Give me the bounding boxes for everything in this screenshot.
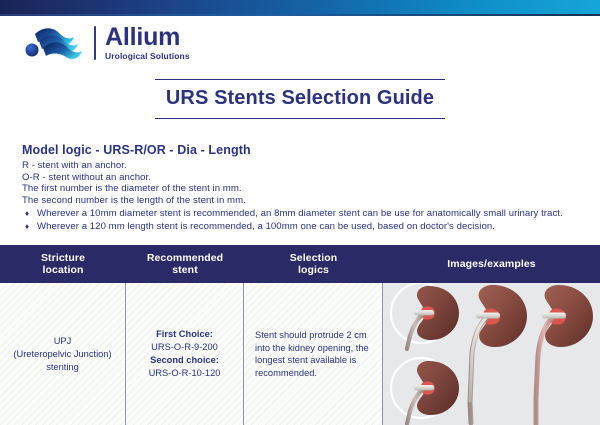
brand-tagline: Urological Solutions bbox=[105, 51, 190, 62]
brand-logo: Allium Urological Solutions bbox=[24, 23, 190, 63]
column-header-line2: location bbox=[41, 264, 85, 277]
model-logic-line: O-R - stent without an anchor. bbox=[22, 172, 582, 184]
logo-divider bbox=[94, 26, 96, 60]
stent-selection-table: Stricture location Recommended stent Sel… bbox=[0, 245, 600, 425]
model-logic-line: The second number is the length of the s… bbox=[22, 195, 582, 207]
cell-selection-logics: Stent should protrude 2 cm into the kidn… bbox=[244, 283, 383, 425]
selection-logics-text: Stent should protrude 2 cm into the kidn… bbox=[244, 329, 382, 379]
model-logic-note-text: Wherever a 10mm diameter stent is recomm… bbox=[37, 207, 563, 220]
table-row: UPJ(Ureteropelvic Junction)stenting Firs… bbox=[0, 283, 600, 425]
first-choice-value: URS-O-R-9-200 bbox=[149, 341, 221, 354]
guide-page: Allium Urological Solutions URS Stents S… bbox=[0, 0, 600, 425]
model-logic-section: Model logic - URS-R/OR - Dia - Length R … bbox=[22, 143, 582, 233]
column-header-stricture-location: Stricture location bbox=[0, 245, 126, 283]
model-logic-line: R - stent with an anchor. bbox=[22, 160, 582, 172]
diamond-bullet-icon: ♦ bbox=[22, 207, 37, 220]
column-header-line1: Images/examples bbox=[447, 258, 535, 271]
model-logic-heading: Model logic - URS-R/OR - Dia - Length bbox=[22, 143, 582, 157]
kidney-illustration-panel bbox=[383, 283, 600, 425]
page-title-block: URS Stents Selection Guide bbox=[155, 79, 445, 119]
second-choice-label: Second choice: bbox=[150, 355, 219, 365]
column-header-recommended-stent: Recommended stent bbox=[126, 245, 244, 283]
kidney-stent-illustrations-icon bbox=[383, 283, 600, 425]
column-header-line1: Selection bbox=[290, 252, 338, 265]
column-header-line2: logics bbox=[290, 264, 338, 277]
page-title: URS Stents Selection Guide bbox=[155, 87, 445, 110]
cell-images-examples bbox=[383, 283, 600, 425]
model-logic-note: ♦ Wherever a 120 mm length stent is reco… bbox=[22, 220, 582, 233]
column-header-line2: stent bbox=[147, 264, 223, 277]
column-header-selection-logics: Selection logics bbox=[244, 245, 383, 283]
allium-wave-logo-icon bbox=[24, 25, 90, 61]
second-choice-value: URS-O-R-10-120 bbox=[149, 367, 221, 380]
header-gradient-hairline bbox=[0, 14, 600, 16]
column-header-line1: Recommended bbox=[147, 252, 223, 265]
model-logic-line: The first number is the diameter of the … bbox=[22, 183, 582, 195]
column-header-images-examples: Images/examples bbox=[383, 245, 600, 283]
cell-recommended-stent: First Choice: URS-O-R-9-200 Second choic… bbox=[126, 283, 244, 425]
table-header-row: Stricture location Recommended stent Sel… bbox=[0, 245, 600, 283]
column-header-line1: Stricture bbox=[41, 252, 85, 265]
logo-wordmark: Allium Urological Solutions bbox=[105, 25, 190, 62]
stricture-location-text: UPJ(Ureteropelvic Junction)stenting bbox=[9, 335, 115, 374]
cell-stricture-location: UPJ(Ureteropelvic Junction)stenting bbox=[0, 283, 126, 425]
diamond-bullet-icon: ♦ bbox=[22, 220, 37, 233]
model-logic-note: ♦ Wherever a 10mm diameter stent is reco… bbox=[22, 207, 582, 220]
brand-name: Allium bbox=[105, 25, 190, 50]
header-gradient-band bbox=[0, 0, 600, 14]
recommended-stent-text: First Choice: URS-O-R-9-200 Second choic… bbox=[149, 328, 221, 380]
model-logic-note-text: Wherever a 120 mm length stent is recomm… bbox=[37, 220, 495, 233]
first-choice-label: First Choice: bbox=[156, 329, 213, 339]
